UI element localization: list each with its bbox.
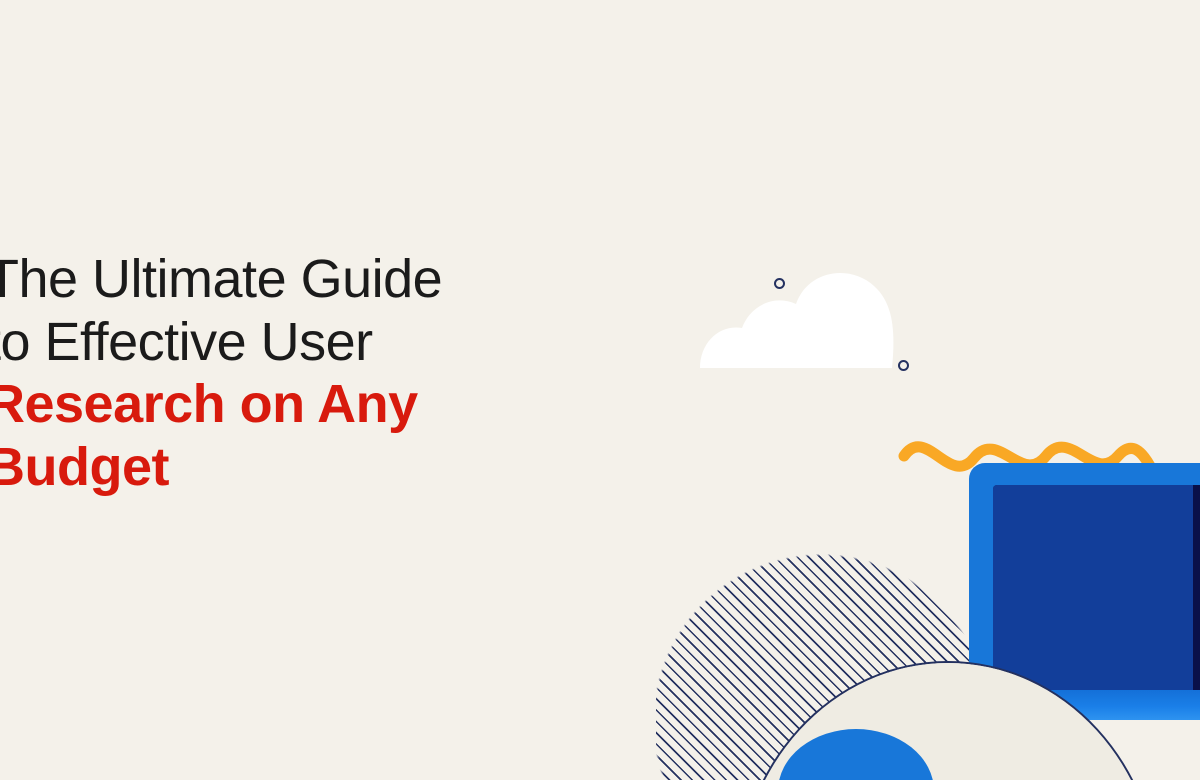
avatar-person-red[interactable] [736,661,1160,780]
headline-line-1: The Ultimate Guide [0,248,506,311]
user-research-illustration [560,100,1200,660]
page-title: The Ultimate Guide to Effective User Res… [0,248,506,499]
cloud-shape-top-left [678,250,978,380]
headline-line-3: Research on Any [0,373,506,436]
headline-line-2: to Effective User [0,311,506,374]
headline-line-4: Budget [0,436,506,499]
navy-dot-1 [774,278,785,289]
hero-banner: The Ultimate Guide to Effective User Res… [0,0,1200,780]
avatar-art [738,663,1158,780]
navy-dot-2 [898,360,909,371]
